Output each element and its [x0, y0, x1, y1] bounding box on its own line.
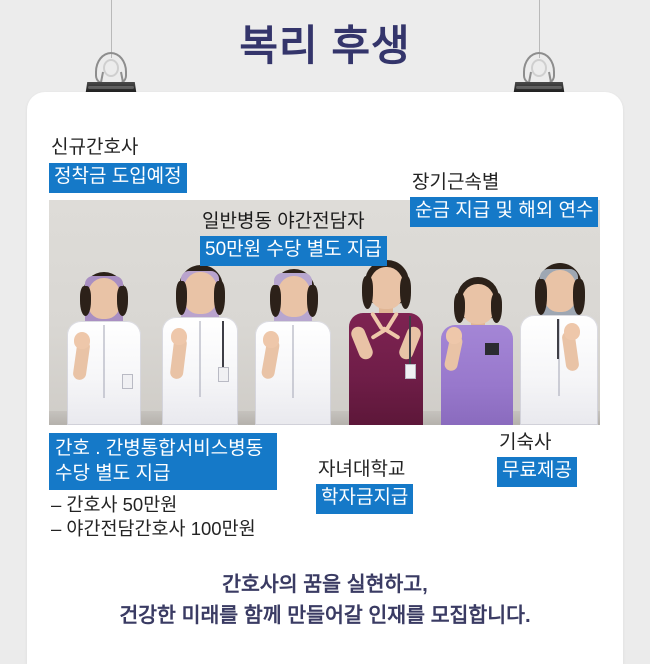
benefit-tuition-highlight: 학자금지급: [316, 484, 413, 514]
staff-member: [59, 270, 149, 425]
staff-member: [247, 267, 339, 425]
integrated-ward-line-1: 간호 . 간병통합서비스병동: [55, 438, 263, 459]
hand-heart-gesture: [368, 312, 402, 342]
head: [277, 276, 311, 317]
benefit-night-duty-highlight: 50만원 수당 별도 지급: [200, 236, 387, 266]
hair-side: [400, 276, 411, 309]
heart-stroke: [381, 326, 400, 340]
benefit-integrated-ward-highlight: 간호 . 간병통합서비스병동 수당 별도 지급: [49, 433, 277, 490]
staff-member: [154, 265, 246, 425]
benefit-night-duty-label: 일반병동 야간전담자: [202, 211, 365, 233]
finger-heart-hand: [74, 332, 90, 349]
footer-tagline-line2: 건강한 미래를 함께 만들어갈 인재를 모집합니다.: [0, 601, 650, 631]
id-badge: [405, 364, 416, 379]
finger-heart-hand: [446, 327, 462, 344]
finger-heart-hand: [564, 323, 580, 340]
id-badge: [218, 367, 229, 382]
hair-side: [454, 293, 465, 323]
benefit-dormitory-highlight: 무료제공: [497, 457, 577, 487]
head: [543, 270, 577, 312]
hair-side: [573, 279, 585, 315]
lab-coat: [520, 315, 598, 425]
head: [369, 267, 404, 309]
hair-side: [214, 281, 225, 315]
benefit-long-service-label: 장기근속별: [412, 172, 499, 194]
hair-side: [491, 293, 502, 323]
benefit-new-nurse-label: 신규간호사: [51, 137, 138, 159]
id-badge: [122, 374, 133, 389]
finger-heart-hand: [263, 331, 279, 348]
benefit-long-service-highlight: 순금 지급 및 해외 연수: [410, 197, 598, 227]
lanyard: [409, 316, 411, 366]
hair-side: [362, 276, 373, 309]
benefit-dormitory-label: 기숙사: [499, 432, 551, 454]
head: [461, 284, 495, 324]
head: [87, 278, 121, 319]
staff-member: [431, 273, 523, 425]
head: [183, 272, 218, 314]
benefit-tuition-label: 자녀대학교: [318, 459, 405, 481]
lanyard: [222, 321, 224, 369]
hair-side: [80, 286, 91, 316]
finger-heart-hand: [171, 328, 187, 345]
hair-side: [307, 285, 318, 317]
integrated-ward-item-1: – 야간전담간호사 100만원: [51, 515, 256, 541]
lanyard: [557, 319, 559, 359]
staff-member: [512, 263, 600, 425]
staff-photo: [49, 200, 600, 425]
integrated-ward-line-2: 수당 별도 지급: [55, 463, 170, 484]
poster-root: 복리 후생 신규간호사 정착금 도입예정 장기근속별 순금 지급 및 해외 연수: [0, 0, 650, 650]
hair-side: [117, 286, 128, 316]
benefit-new-nurse-highlight: 정착금 도입예정: [49, 163, 187, 193]
hair-side: [535, 279, 547, 315]
staff-member-center: [337, 260, 433, 425]
hair-side: [176, 281, 187, 315]
integrated-ward-item-0: – 간호사 50만원: [51, 491, 177, 517]
footer-tagline-line1: 간호사의 꿈을 실현하고,: [0, 570, 650, 600]
hair-side: [270, 285, 281, 317]
wrist-watch: [485, 343, 499, 355]
